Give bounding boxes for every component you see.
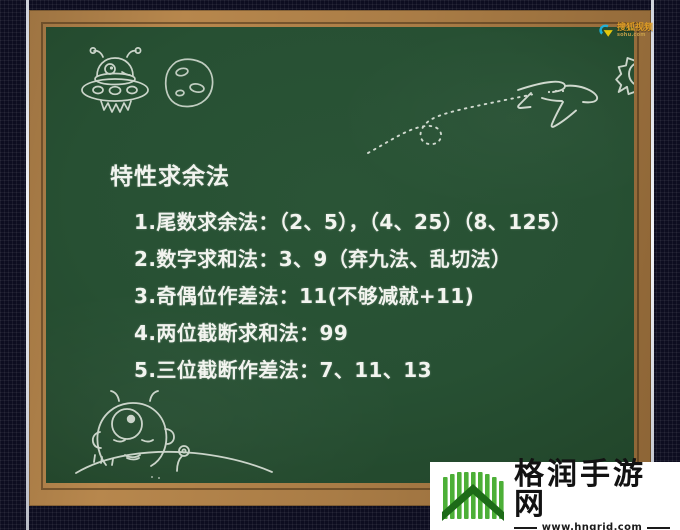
bottom-right-watermark: 格润手游网 www.hngrjd.com	[430, 462, 680, 530]
rule-left	[514, 527, 537, 529]
chalkboard-surface: 特性求余法 1.尾数求余法：（2、5），（4、25）（8、125） 2.数字求和…	[46, 27, 634, 483]
list-item: 1.尾数求余法：（2、5），（4、25）（8、125）	[134, 204, 634, 241]
ufo-doodle	[70, 45, 162, 123]
grjd-logo-icon	[442, 471, 504, 521]
airplane-doodle	[366, 65, 606, 155]
list-item: 5.三位截断作差法：7、11、13	[134, 352, 634, 389]
method-list: 1.尾数求余法：（2、5），（4、25）（8、125） 2.数字求和法：3、9（…	[46, 204, 634, 389]
list-item: 4.两位截断求和法：99	[134, 315, 634, 352]
lesson-text-block: 特性求余法 1.尾数求余法：（2、5），（4、25）（8、125） 2.数字求和…	[46, 165, 634, 389]
sun-gear-doodle	[612, 45, 634, 103]
watermark-text-group: 搜狐视频 sohu.com	[617, 24, 653, 38]
blackboard-wooden-frame: 特性求余法 1.尾数求余法：（2、5），（4、25）（8、125） 2.数字求和…	[29, 10, 651, 506]
frame-rail-right	[651, 0, 654, 530]
top-right-watermark: 搜狐视频 sohu.com	[597, 21, 653, 41]
watermark-site-url: www.hngrjd.com	[542, 523, 642, 530]
video-site-logo-icon	[597, 23, 614, 40]
list-item: 3.奇偶位作差法：11(不够减就+11)	[134, 278, 634, 315]
rule-right	[647, 527, 670, 529]
watermark-site-domain: sohu.com	[617, 33, 653, 38]
monster-doodle	[64, 377, 274, 483]
asteroid-doodle	[158, 55, 220, 113]
watermark-wordmark: 格润手游网 www.hngrjd.com	[514, 460, 670, 530]
page-title: 特性求余法	[110, 165, 634, 190]
list-item: 2.数字求和法：3、9（弃九法、乱切法）	[134, 241, 634, 278]
watermark-url-row: www.hngrjd.com	[514, 523, 670, 530]
watermark-site-name: 格润手游网	[514, 460, 670, 520]
screenshot-stage: 特性求余法 1.尾数求余法：（2、5），（4、25）（8、125） 2.数字求和…	[0, 0, 680, 530]
